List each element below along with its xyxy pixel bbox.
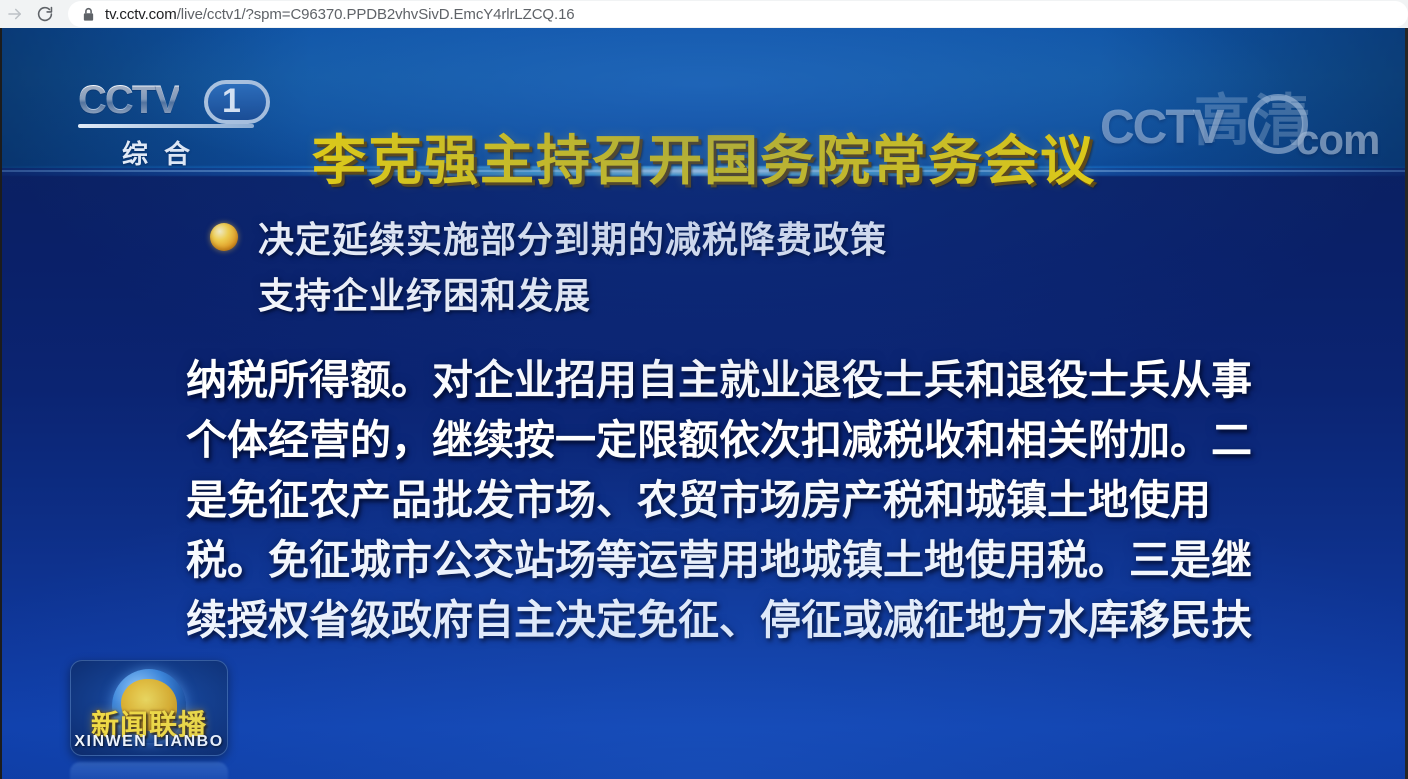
body-line: 纳税所得额。对企业招用自主就业退役士兵和退役士兵从事: [186, 350, 1226, 410]
subtitle-line-1: 决定延续实施部分到期的减税降费政策: [258, 213, 887, 269]
body-line: 税。免征城市公交站场等运营用地城镇土地使用税。三是继: [186, 530, 1226, 590]
reload-icon[interactable]: [30, 1, 60, 27]
browser-toolbar: tv.cctv.com/live/cctv1/?spm=C96370.PPDB2…: [0, 0, 1408, 28]
watermark-suffix: com: [1296, 116, 1379, 164]
url-domain: tv.cctv.com: [105, 6, 177, 23]
subtitle-line-2: 支持企业纾困和发展: [258, 269, 1310, 325]
broadcast-body-text: 纳税所得额。对企业招用自主就业退役士兵和退役士兵从事 个体经营的，继续按一定限额…: [186, 350, 1226, 650]
video-player-stage[interactable]: CCTV 1 综合 李克强主持召开国务院常务会议 高清 CCTV com 决定延…: [0, 28, 1408, 779]
gold-bullet-icon: [210, 223, 238, 251]
cctv-com-watermark: 高清 CCTV com: [1100, 80, 1370, 172]
program-name-en: XINWEN LIANBO: [71, 733, 227, 751]
xinwen-lianbo-badge: 新闻联播 XINWEN LIANBO: [70, 660, 228, 756]
forward-arrow-icon[interactable]: [0, 1, 30, 27]
omnibox[interactable]: tv.cctv.com/live/cctv1/?spm=C96370.PPDB2…: [68, 1, 1408, 27]
watermark-brand: CCTV: [1100, 102, 1223, 154]
url-text: tv.cctv.com/live/cctv1/?spm=C96370.PPDB2…: [105, 6, 575, 23]
cctv1-channel-number: 1: [222, 83, 241, 119]
url-path: /live/cctv1/?spm=C96370.PPDB2vhvSivD.Emc…: [177, 6, 575, 23]
subtitle-row: 决定延续实施部分到期的减税降费政策: [210, 213, 1310, 269]
broadcast-subtitle-block: 决定延续实施部分到期的减税降费政策 支持企业纾困和发展: [210, 213, 1310, 325]
body-line: 续授权省级政府自主决定免征、停征或减征地方水库移民扶: [186, 590, 1226, 650]
badge-reflection: [70, 762, 228, 779]
lock-icon[interactable]: [82, 7, 95, 22]
body-line: 个体经营的，继续按一定限额依次扣减税收和相关附加。二: [186, 410, 1226, 470]
body-line: 是免征农产品批发市场、农贸市场房产税和城镇土地使用: [186, 470, 1226, 530]
